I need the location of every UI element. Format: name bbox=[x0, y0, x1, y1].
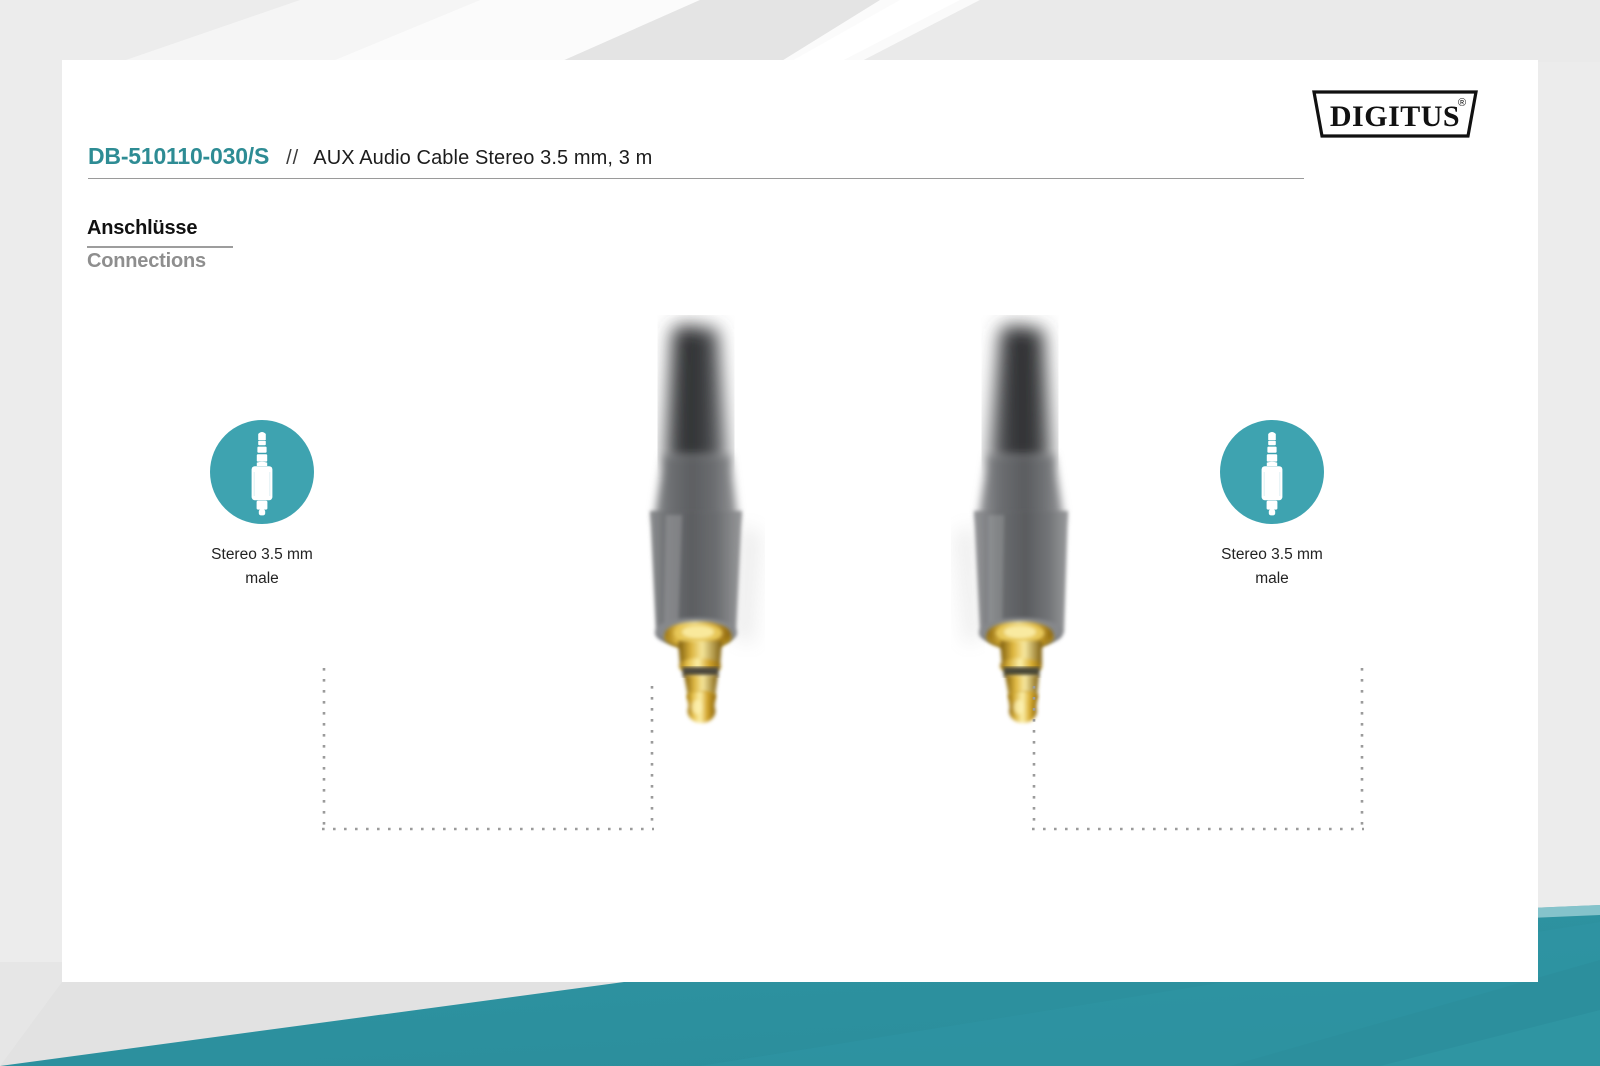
connector-left-caption: Stereo 3.5 mm male bbox=[147, 543, 377, 591]
title-separator: // bbox=[286, 147, 299, 170]
connector-right-label-line1: Stereo 3.5 mm bbox=[1221, 546, 1323, 563]
connector-left-label-line2: male bbox=[147, 567, 377, 591]
product-sku: DB-510110-030/S bbox=[88, 143, 269, 170]
connector-right-leader-line bbox=[1022, 668, 1374, 838]
datasheet-card: DIGITUS ® DB-510110-030/S // AUX Audio C… bbox=[62, 60, 1538, 982]
product-title-row: DB-510110-030/S // AUX Audio Cable Stere… bbox=[88, 143, 1304, 170]
product-description: AUX Audio Cable Stereo 3.5 mm, 3 m bbox=[313, 147, 652, 170]
connector-left-label-line1: Stereo 3.5 mm bbox=[211, 546, 313, 563]
logo-wordmark: DIGITUS bbox=[1330, 100, 1460, 133]
connector-right-label-line2: male bbox=[1157, 567, 1387, 591]
registered-trademark-symbol: ® bbox=[1458, 97, 1466, 109]
digitus-logo: DIGITUS ® bbox=[1310, 88, 1480, 140]
connector-left-icon-column: Stereo 3.5 mm male bbox=[147, 420, 377, 591]
section-heading-underline bbox=[87, 246, 233, 248]
connector-right-caption: Stereo 3.5 mm male bbox=[1157, 543, 1387, 591]
title-divider bbox=[88, 178, 1304, 179]
connector-right-icon-column: Stereo 3.5 mm male bbox=[1157, 420, 1387, 591]
section-heading-de: Anschlüsse bbox=[87, 217, 197, 240]
connector-left-leader-line bbox=[312, 668, 664, 838]
stereo-jack-35mm-male-icon bbox=[1220, 420, 1324, 524]
stereo-jack-35mm-male-icon bbox=[210, 420, 314, 524]
section-heading-en: Connections bbox=[87, 250, 206, 273]
